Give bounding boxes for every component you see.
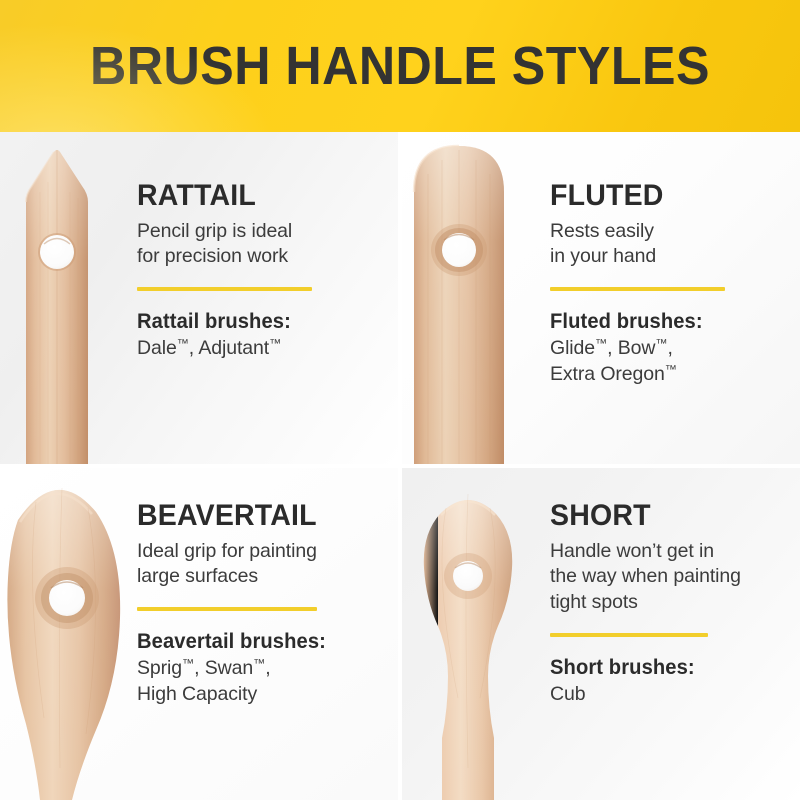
accent-divider — [550, 633, 708, 637]
brushes-label: Beavertail brushes: — [137, 630, 375, 654]
accent-divider — [137, 287, 312, 291]
description-line: Handle won’t get in — [550, 539, 790, 565]
brushes-label: Rattail brushes: — [137, 310, 358, 334]
page-title: BRUSH HANDLE STYLES — [28, 39, 772, 93]
style-description: Handle won’t get in the way when paintin… — [550, 539, 790, 617]
style-text-rattail: RATTAIL Pencil grip is ideal for precisi… — [137, 180, 367, 362]
accent-divider — [550, 287, 725, 291]
description-line: for precision work — [137, 244, 367, 270]
style-description: Ideal grip for painting large surfaces — [137, 539, 385, 591]
brushes-line: Extra Oregon™ — [550, 362, 790, 387]
brushes-label: Short brushes: — [550, 656, 780, 680]
description-line: in your hand — [550, 244, 790, 270]
header-banner: BRUSH HANDLE STYLES — [0, 0, 800, 132]
style-name: FLUTED — [550, 180, 778, 212]
brushes-line: High Capacity — [137, 682, 385, 707]
style-name: BEAVERTAIL — [137, 500, 373, 532]
description-line: large surfaces — [137, 564, 385, 590]
styles-grid: RATTAIL Pencil grip is ideal for precisi… — [0, 132, 800, 800]
style-description: Rests easily in your hand — [550, 219, 790, 271]
brushes-line: Dale™, Adjutant™ — [137, 336, 367, 361]
style-name: RATTAIL — [137, 180, 356, 212]
style-description: Pencil grip is ideal for precision work — [137, 219, 367, 271]
style-name: SHORT — [550, 500, 778, 532]
description-line: the way when painting — [550, 564, 790, 590]
style-card-fluted[interactable]: FLUTED Rests easily in your hand Fluted … — [402, 132, 800, 464]
style-text-short: SHORT Handle won’t get in the way when p… — [550, 500, 790, 708]
description-line: Rests easily — [550, 219, 790, 245]
brushes-list: Sprig™, Swan™, High Capacity — [137, 656, 385, 707]
style-text-beavertail: BEAVERTAIL Ideal grip for painting large… — [137, 500, 385, 707]
brushes-list: Cub — [550, 682, 790, 707]
brushes-line: Glide™, Bow™, — [550, 336, 790, 361]
accent-divider — [137, 607, 317, 611]
infographic-poster: BRUSH HANDLE STYLES — [0, 0, 800, 800]
description-line: Ideal grip for painting — [137, 539, 385, 565]
brushes-label: Fluted brushes: — [550, 310, 780, 334]
brushes-line: Cub — [550, 682, 790, 707]
style-card-short[interactable]: SHORT Handle won’t get in the way when p… — [402, 468, 800, 800]
style-card-rattail[interactable]: RATTAIL Pencil grip is ideal for precisi… — [0, 132, 398, 464]
brushes-line: Sprig™, Swan™, — [137, 656, 385, 681]
style-card-beavertail[interactable]: BEAVERTAIL Ideal grip for painting large… — [0, 468, 398, 800]
description-line: Pencil grip is ideal — [137, 219, 367, 245]
description-line: tight spots — [550, 590, 790, 616]
style-text-fluted: FLUTED Rests easily in your hand Fluted … — [550, 180, 790, 387]
brushes-list: Dale™, Adjutant™ — [137, 336, 367, 361]
brushes-list: Glide™, Bow™, Extra Oregon™ — [550, 336, 790, 387]
